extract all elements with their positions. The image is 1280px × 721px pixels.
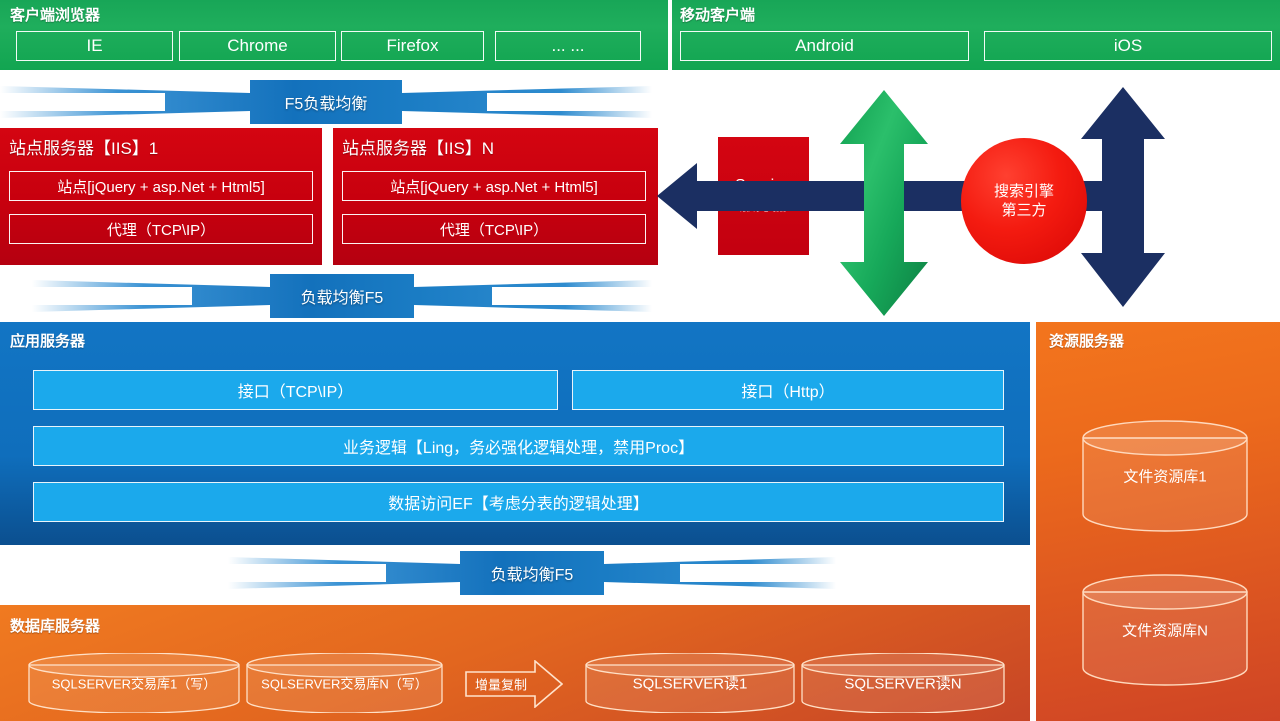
site-server-n-proxy[interactable]: 代理（TCP\IP） <box>342 214 646 244</box>
incremental-replication-arrow: 增量复制 <box>465 660 563 708</box>
app-business-logic[interactable]: 业务逻辑【Ling，务必强化逻辑处理，禁用Proc】 <box>33 426 1004 466</box>
app-interface-tcpip[interactable]: 接口（TCP\IP） <box>33 370 558 410</box>
client-browsers-title: 客户端浏览器 <box>10 8 100 23</box>
file-store-n-cylinder[interactable]: 文件资源库N <box>1082 574 1248 686</box>
bowtie-shape-bottom <box>228 551 836 595</box>
file-store-1-label: 文件资源库1 <box>1082 466 1248 487</box>
database-server-panel: 数据库服务器 SQLSERVER交易库1（写） SQLSERVER交易库N（写）… <box>0 605 1030 721</box>
app-data-access[interactable]: 数据访问EF【考虑分表的逻辑处理】 <box>33 482 1004 522</box>
write-db-n-label: SQLSERVER交易库N（写） <box>246 674 443 693</box>
site-server-n-title: 站点服务器【IIS】N <box>342 140 494 157</box>
site-server-n-stack[interactable]: 站点[jQuery + asp.Net + Html5] <box>342 171 646 201</box>
write-db-1-cylinder[interactable]: SQLSERVER交易库1（写） <box>28 653 240 713</box>
mobile-chip-android[interactable]: Android <box>680 31 969 61</box>
mobile-chip-ios[interactable]: iOS <box>984 31 1272 61</box>
write-db-n-cylinder[interactable]: SQLSERVER交易库N（写） <box>246 653 443 713</box>
search-engine-label: 搜索引擎 第三方 <box>994 182 1054 221</box>
site-server-1-stack[interactable]: 站点[jQuery + asp.Net + Html5] <box>9 171 313 201</box>
site-server-1-title: 站点服务器【IIS】1 <box>9 140 158 157</box>
resource-server-title: 资源服务器 <box>1049 334 1124 349</box>
green-vertical-double-arrow-icon <box>838 88 930 318</box>
browser-chip-ie[interactable]: IE <box>16 31 173 61</box>
read-db-n-label: SQLSERVER读N <box>801 673 1005 694</box>
browser-chip-firefox[interactable]: Firefox <box>341 31 484 61</box>
site-server-1-proxy[interactable]: 代理（TCP\IP） <box>9 214 313 244</box>
load-balancer-top: F5负载均衡 <box>0 80 652 124</box>
read-db-n-cylinder[interactable]: SQLSERVER读N <box>801 653 1005 713</box>
incremental-replication-label: 增量复制 <box>469 675 533 694</box>
site-server-1-panel: 站点服务器【IIS】1 站点[jQuery + asp.Net + Html5]… <box>0 128 322 265</box>
search-engine-circle[interactable]: 搜索引擎 第三方 <box>961 138 1087 264</box>
write-db-1-label: SQLSERVER交易库1（写） <box>28 674 240 693</box>
file-store-1-cylinder[interactable]: 文件资源库1 <box>1082 420 1248 532</box>
load-balancer-bottom: 负载均衡F5 <box>228 551 836 595</box>
bowtie-shape-top <box>0 80 652 124</box>
file-store-n-label: 文件资源库N <box>1082 620 1248 641</box>
mobile-clients-panel: 移动客户端 Android iOS <box>672 0 1280 70</box>
database-server-title: 数据库服务器 <box>10 619 100 634</box>
browser-chip-others[interactable]: ... ... <box>495 31 641 61</box>
app-server-title: 应用服务器 <box>10 334 85 349</box>
resource-server-panel: 资源服务器 文件资源库1 文件资源库N <box>1036 322 1280 721</box>
app-interface-http[interactable]: 接口（Http） <box>572 370 1004 410</box>
search-engine-line2: 第三方 <box>994 201 1054 221</box>
client-browsers-panel: 客户端浏览器 IE Chrome Firefox ... ... <box>0 0 668 70</box>
site-server-n-panel: 站点服务器【IIS】N 站点[jQuery + asp.Net + Html5]… <box>333 128 658 265</box>
load-balancer-middle: 负载均衡F5 <box>32 274 652 318</box>
read-db-1-cylinder[interactable]: SQLSERVER读1 <box>585 653 795 713</box>
search-engine-line1: 搜索引擎 <box>994 182 1054 202</box>
mobile-clients-title: 移动客户端 <box>680 8 755 23</box>
browser-chip-chrome[interactable]: Chrome <box>179 31 336 61</box>
bowtie-shape-middle <box>32 274 652 318</box>
read-db-1-label: SQLSERVER读1 <box>585 673 795 694</box>
app-server-panel: 应用服务器 接口（TCP\IP） 接口（Http） 业务逻辑【Ling，务必强化… <box>0 322 1030 545</box>
